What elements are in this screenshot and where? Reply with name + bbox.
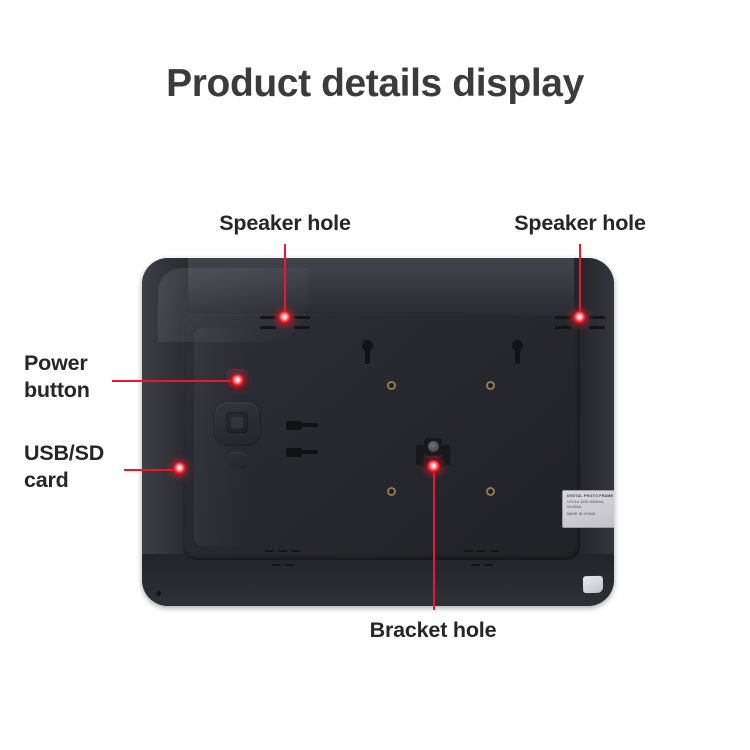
sd-card-port-head (286, 448, 302, 457)
device-back-panel: DIGITAL PHOTO FRAME 12V/1A 1000-5000mA 5… (142, 258, 614, 606)
usb-port-tail (301, 423, 318, 427)
callout-marker-speaker-hole-left (278, 311, 291, 324)
speaker-slot (294, 326, 310, 329)
speaker-slot (555, 326, 571, 329)
sticker-line: 5V/500A (567, 505, 614, 511)
keyhole-slot (515, 348, 520, 364)
usb-port-head (286, 421, 302, 430)
vesa-screw-hole (486, 487, 495, 496)
bottom-speaker-dash (272, 564, 281, 566)
sticker-line: MADE IN CHINA (567, 512, 595, 518)
bottom-speaker-dash (477, 550, 486, 552)
menu-button[interactable] (228, 452, 247, 469)
speaker-slot (555, 316, 571, 319)
speaker-slot (260, 316, 276, 319)
bottom-speaker-dash (471, 564, 480, 566)
bottom-speaker-dash (291, 550, 300, 552)
sticker-bottom-row: MADE IN CHINA CE FC (567, 512, 614, 518)
callout-label-power-button: Power button (24, 350, 164, 404)
device-bevel-bottom (142, 554, 614, 606)
bottom-speaker-dash (464, 550, 473, 552)
page-title: Product details display (0, 62, 750, 106)
speaker-slot (260, 326, 276, 329)
callout-label-speaker-hole-left: Speaker hole (185, 210, 385, 237)
keyhole-slot (365, 348, 370, 364)
product-detail-figure: Product details display (0, 0, 750, 750)
callout-marker-bracket-hole (427, 460, 440, 473)
spec-sticker: DIGITAL PHOTO FRAME 12V/1A 1000-5000mA 5… (562, 490, 614, 528)
callout-label-usb-sd-card: USB/SD card (24, 440, 164, 494)
vesa-screw-hole (387, 487, 396, 496)
bottom-speaker-dash (265, 550, 274, 552)
nav-pad-inner (231, 417, 243, 428)
bottom-speaker-dash (278, 550, 287, 552)
speaker-slot (589, 326, 605, 329)
bottom-speaker-dash (490, 550, 499, 552)
callout-marker-power-button (231, 374, 244, 387)
vesa-screw-hole (486, 381, 495, 390)
corner-rubber-foot (583, 576, 603, 593)
callout-marker-speaker-hole-right (573, 311, 586, 324)
navigation-pad[interactable] (215, 402, 259, 444)
sticker-line: DIGITAL PHOTO FRAME (567, 494, 614, 500)
bottom-speaker-dash (285, 564, 294, 566)
callout-marker-usb-sd-card (173, 462, 186, 475)
callout-leader-speaker-hole-right (579, 244, 581, 318)
speaker-slot (589, 316, 605, 319)
callout-leader-bracket-hole (433, 466, 435, 610)
callout-leader-speaker-hole-left (284, 244, 286, 318)
bracket-hole-opening (428, 441, 439, 452)
vesa-screw-hole (387, 381, 396, 390)
sd-card-port-tail (301, 450, 318, 454)
callout-label-bracket-hole: Bracket hole (333, 617, 533, 644)
frame-screw-dot (156, 591, 161, 596)
bottom-speaker-dash (484, 564, 493, 566)
callout-label-speaker-hole-right: Speaker hole (480, 210, 680, 237)
wall-mount-keyhole (510, 340, 525, 364)
callout-leader-power-button (112, 380, 240, 382)
speaker-slot (294, 316, 310, 319)
wall-mount-keyhole (360, 340, 375, 364)
